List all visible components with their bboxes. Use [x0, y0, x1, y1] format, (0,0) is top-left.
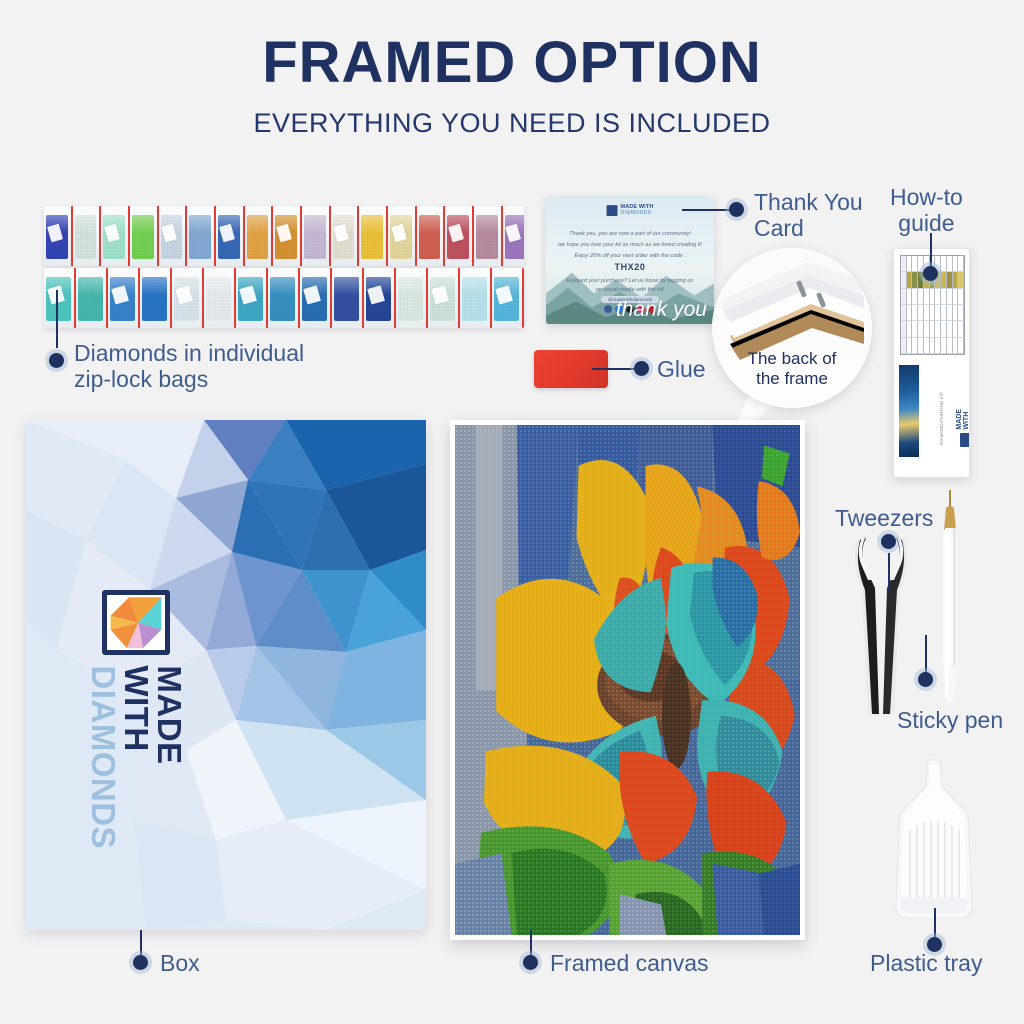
zip-lock-bag: [460, 268, 492, 328]
brand-name-bottom: DIAMONDS: [87, 665, 120, 851]
label-sticky-pen: Sticky pen: [897, 708, 1003, 734]
guide-brand-logo: MADE WITH DIAMONDS: [956, 391, 970, 447]
zip-lock-bag: [474, 206, 503, 266]
label-box: Box: [160, 951, 200, 977]
brand-mark-icon: [103, 590, 171, 655]
canvas-leader-dot: [523, 955, 538, 970]
tweezers-leader-line: [888, 553, 890, 591]
bag-shine: [204, 268, 234, 295]
zip-lock-bag: [245, 206, 274, 266]
zip-lock-bag: [44, 268, 76, 328]
card-line-1: Thank you, you are now a part of our com…: [546, 229, 714, 240]
sticky-pen-leader-dot: [918, 672, 933, 687]
back-of-frame-callout: The back of the frame: [712, 248, 872, 408]
sticky-pen-tool: [935, 490, 965, 706]
facebook-icon: [604, 305, 612, 313]
guide-brand-text: MADE WITH DIAMONDS: [956, 391, 970, 430]
thank-you-leader-line: [682, 209, 730, 211]
thank-you-leader-dot: [729, 202, 744, 217]
zip-lock-bag: [332, 268, 364, 328]
glue-leader-dot: [634, 361, 649, 376]
zip-lock-bag: [101, 206, 130, 266]
label-framed-canvas: Framed canvas: [550, 951, 709, 977]
zip-lock-bag: [108, 268, 140, 328]
bag-shine: [359, 206, 386, 233]
zip-lock-bag: [503, 206, 525, 266]
card-line-2: we hope you love your kit as much as we …: [546, 240, 714, 251]
zip-lock-bag: [44, 206, 73, 266]
zip-lock-bag: [130, 206, 159, 266]
bag-shine: [474, 206, 501, 233]
guide-table-cell: [958, 305, 964, 321]
how-to-leader-dot: [923, 266, 938, 281]
tweezers-tool: [852, 528, 912, 718]
page-title: FRAMED OPTION: [0, 34, 1024, 92]
bag-shine: [76, 268, 106, 295]
bag-shine: [302, 206, 329, 233]
guide-side-text: DIAMOND PAINTING KIT: [939, 392, 944, 445]
diamond-bag-row-top: [44, 206, 524, 266]
box-brand-logo: MADE WITH DIAMONDS: [87, 590, 186, 852]
label-plastic-tray: Plastic tray: [870, 951, 982, 977]
zip-lock-bag: [388, 206, 417, 266]
tweezers-leader-dot: [881, 534, 896, 549]
plastic-tray-tool: [872, 758, 996, 933]
zip-lock-bag: [73, 206, 102, 266]
zip-lock-bag: [273, 206, 302, 266]
canvas-bead-shadow: [455, 425, 800, 935]
zip-lock-bag: [236, 268, 268, 328]
bag-shine: [187, 206, 214, 233]
card-line-3: Enjoy 20% off your next order with the c…: [546, 251, 714, 262]
zip-lock-bag: [159, 206, 188, 266]
bag-shine: [73, 206, 100, 233]
zip-lock-bag: [359, 206, 388, 266]
brand-mark-icon: [607, 205, 618, 216]
card-line-5: on social media with the kit!: [546, 285, 714, 296]
guide-preview-image: [899, 365, 919, 457]
product-box: MADE WITH DIAMONDS: [26, 420, 426, 930]
bag-shine: [268, 268, 298, 295]
zip-lock-bag: [268, 268, 300, 328]
bag-shine: [245, 206, 272, 233]
label-how-to-guide: How-to guide: [890, 185, 963, 237]
zip-lock-bag: [172, 268, 204, 328]
card-discount-code: THX20: [546, 262, 714, 272]
zip-lock-bag: [216, 206, 245, 266]
guide-table-cell: [958, 321, 964, 337]
box-leader-dot: [133, 955, 148, 970]
zip-lock-bag: [300, 268, 332, 328]
zip-lock-bag: [396, 268, 428, 328]
brand-mark-icon: [960, 433, 970, 447]
brand-name-top: MADE WITH: [120, 665, 186, 851]
diamonds-leader-dot: [49, 353, 64, 368]
bag-shine: [130, 206, 157, 233]
infographic-root: FRAMED OPTION EVERYTHING YOU NEED IS INC…: [0, 0, 1024, 1024]
sticky-pen-leader-line: [925, 635, 927, 675]
brand-name-top: MADE WITH: [956, 409, 970, 430]
bag-shine: [396, 268, 426, 295]
guide-table-cell: [958, 289, 964, 305]
bag-shine: [417, 206, 444, 233]
guide-table-cell: [958, 256, 964, 272]
zip-lock-bag: [331, 206, 360, 266]
label-glue: Glue: [657, 357, 706, 383]
card-brand-text: MADE WITH DIAMONDS: [621, 205, 654, 216]
zip-lock-bag: [302, 206, 331, 266]
zip-lock-bag: [204, 268, 236, 328]
tray-leader-line: [934, 908, 936, 940]
card-signature: thank you: [616, 301, 707, 318]
how-to-guide: MADE WITH DIAMONDS DIAMOND PAINTING KIT: [893, 248, 970, 478]
framed-canvas: [450, 420, 805, 940]
canvas-artwork: [455, 425, 800, 935]
zip-lock-bag: [445, 206, 474, 266]
thank-you-card: MADE WITH DIAMONDS Thank you, you are no…: [546, 196, 714, 324]
zip-lock-bag: [187, 206, 216, 266]
card-brand-logo: MADE WITH DIAMONDS: [607, 205, 654, 216]
zip-lock-bag: [417, 206, 446, 266]
diamonds-leader-line: [56, 290, 58, 348]
guide-table-cell: [958, 272, 964, 288]
zip-lock-bag: [76, 268, 108, 328]
bag-shine: [140, 268, 170, 295]
zip-lock-bag: [140, 268, 172, 328]
zip-lock-bag: [428, 268, 460, 328]
back-of-frame-caption: The back of the frame: [712, 349, 872, 390]
zip-lock-bag: [492, 268, 524, 328]
guide-table-cell: [958, 338, 964, 354]
page-subtitle: EVERYTHING YOU NEED IS INCLUDED: [0, 108, 1024, 139]
diamond-bag-row-bottom: [44, 268, 524, 328]
label-thank-you-card: Thank You Card: [754, 190, 863, 242]
brand-name-bottom: DIAMONDS: [621, 210, 652, 216]
label-tweezers: Tweezers: [835, 506, 933, 532]
zip-lock-bag: [364, 268, 396, 328]
box-brand-text: MADE WITH DIAMONDS: [87, 665, 186, 851]
bag-shine: [460, 268, 490, 295]
label-diamonds: Diamonds in individual zip-lock bags: [74, 341, 304, 393]
bag-shine: [332, 268, 362, 295]
glue-leader-line: [592, 368, 636, 370]
